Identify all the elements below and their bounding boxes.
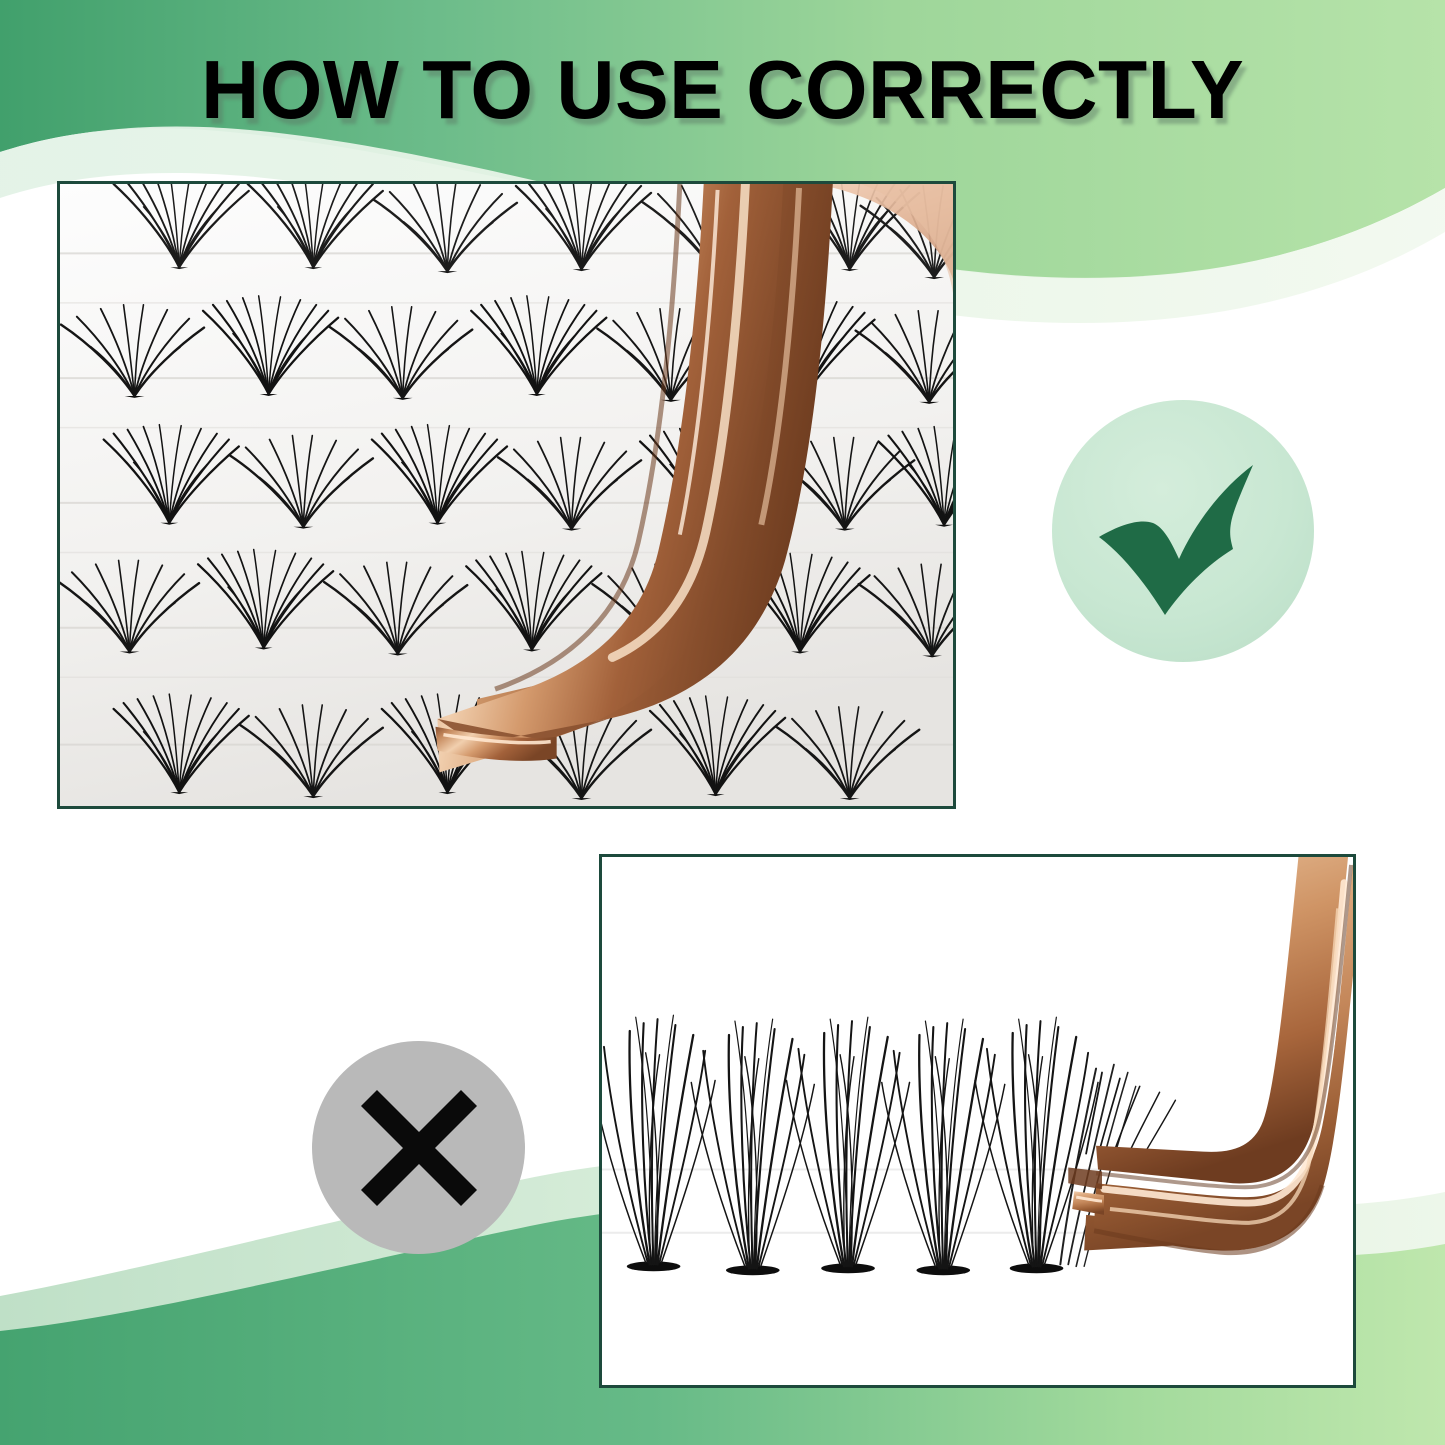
check-icon (1083, 431, 1283, 631)
wrong-badge (312, 1041, 525, 1254)
correct-badge (1052, 400, 1314, 662)
infographic-page: HOW TO USE CORRECTLY (0, 0, 1445, 1445)
correct-technique-photo (57, 181, 956, 809)
incorrect-technique-photo (599, 854, 1356, 1388)
page-title-container: HOW TO USE CORRECTLY (0, 48, 1445, 131)
cross-icon (349, 1078, 489, 1218)
page-title: HOW TO USE CORRECTLY (201, 48, 1244, 131)
